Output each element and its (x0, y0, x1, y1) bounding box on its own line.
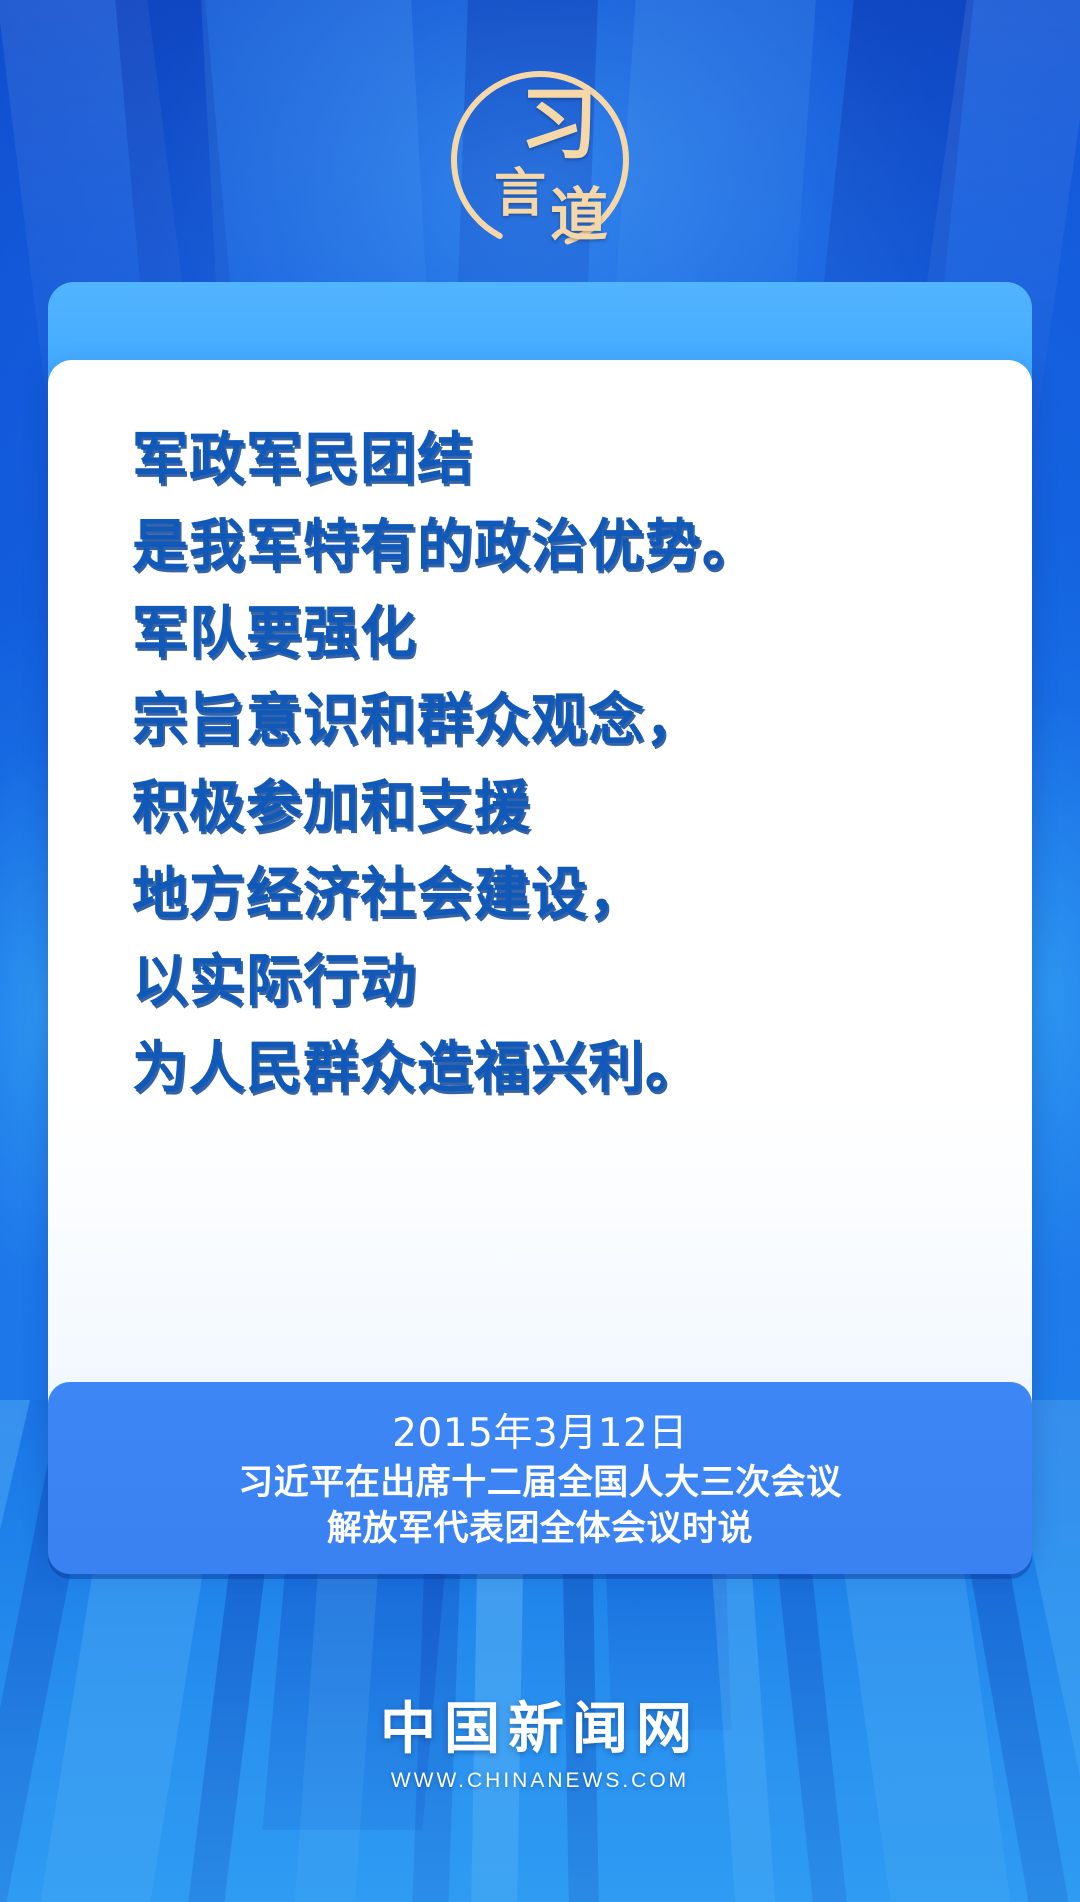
attribution-line-1: 习近平在出席十二届全国人大三次会议 (238, 1460, 842, 1506)
quote-text-block: 军政军民团结 是我军特有的政治优势。 军队要强化 宗旨意识和群众观念， 积极参加… (132, 416, 984, 1112)
quote-line: 军队要强化 (132, 590, 984, 677)
quote-line: 为人民群众造福兴利。 (132, 1025, 984, 1112)
footer-brand: 中国新闻网 WWW.CHINANEWS.COM (0, 1700, 1080, 1793)
footer-brand-url: WWW.CHINANEWS.COM (391, 1769, 689, 1793)
seal-char-dao: 道 (550, 186, 608, 244)
quote-line: 是我军特有的政治优势。 (132, 503, 984, 590)
attribution-date: 2015年3月12日 (392, 1408, 688, 1460)
poster-root: 习 言 道 军政军民团结 是我军特有的政治优势。 军队要强化 宗旨意识和群众观念… (0, 0, 1080, 1902)
seal-characters: 习 言 道 (442, 62, 638, 258)
attribution-box: 2015年3月12日 习近平在出席十二届全国人大三次会议 解放军代表团全体会议时… (48, 1382, 1032, 1574)
seal-circle-icon: 习 言 道 (442, 62, 638, 258)
seal-char-xi: 习 (520, 86, 598, 164)
quote-line: 积极参加和支援 (132, 764, 984, 851)
brand-seal: 习 言 道 (0, 52, 1080, 267)
attribution-line-2: 解放军代表团全体会议时说 (327, 1506, 753, 1552)
quote-line: 地方经济社会建设， (132, 851, 984, 938)
quote-line: 军政军民团结 (132, 416, 984, 503)
footer-brand-name: 中国新闻网 (380, 1700, 700, 1759)
quote-card: 军政军民团结 是我军特有的政治优势。 军队要强化 宗旨意识和群众观念， 积极参加… (48, 360, 1032, 1560)
seal-char-yan: 言 (494, 168, 546, 220)
quote-line: 宗旨意识和群众观念， (132, 677, 984, 764)
quote-line: 以实际行动 (132, 938, 984, 1025)
